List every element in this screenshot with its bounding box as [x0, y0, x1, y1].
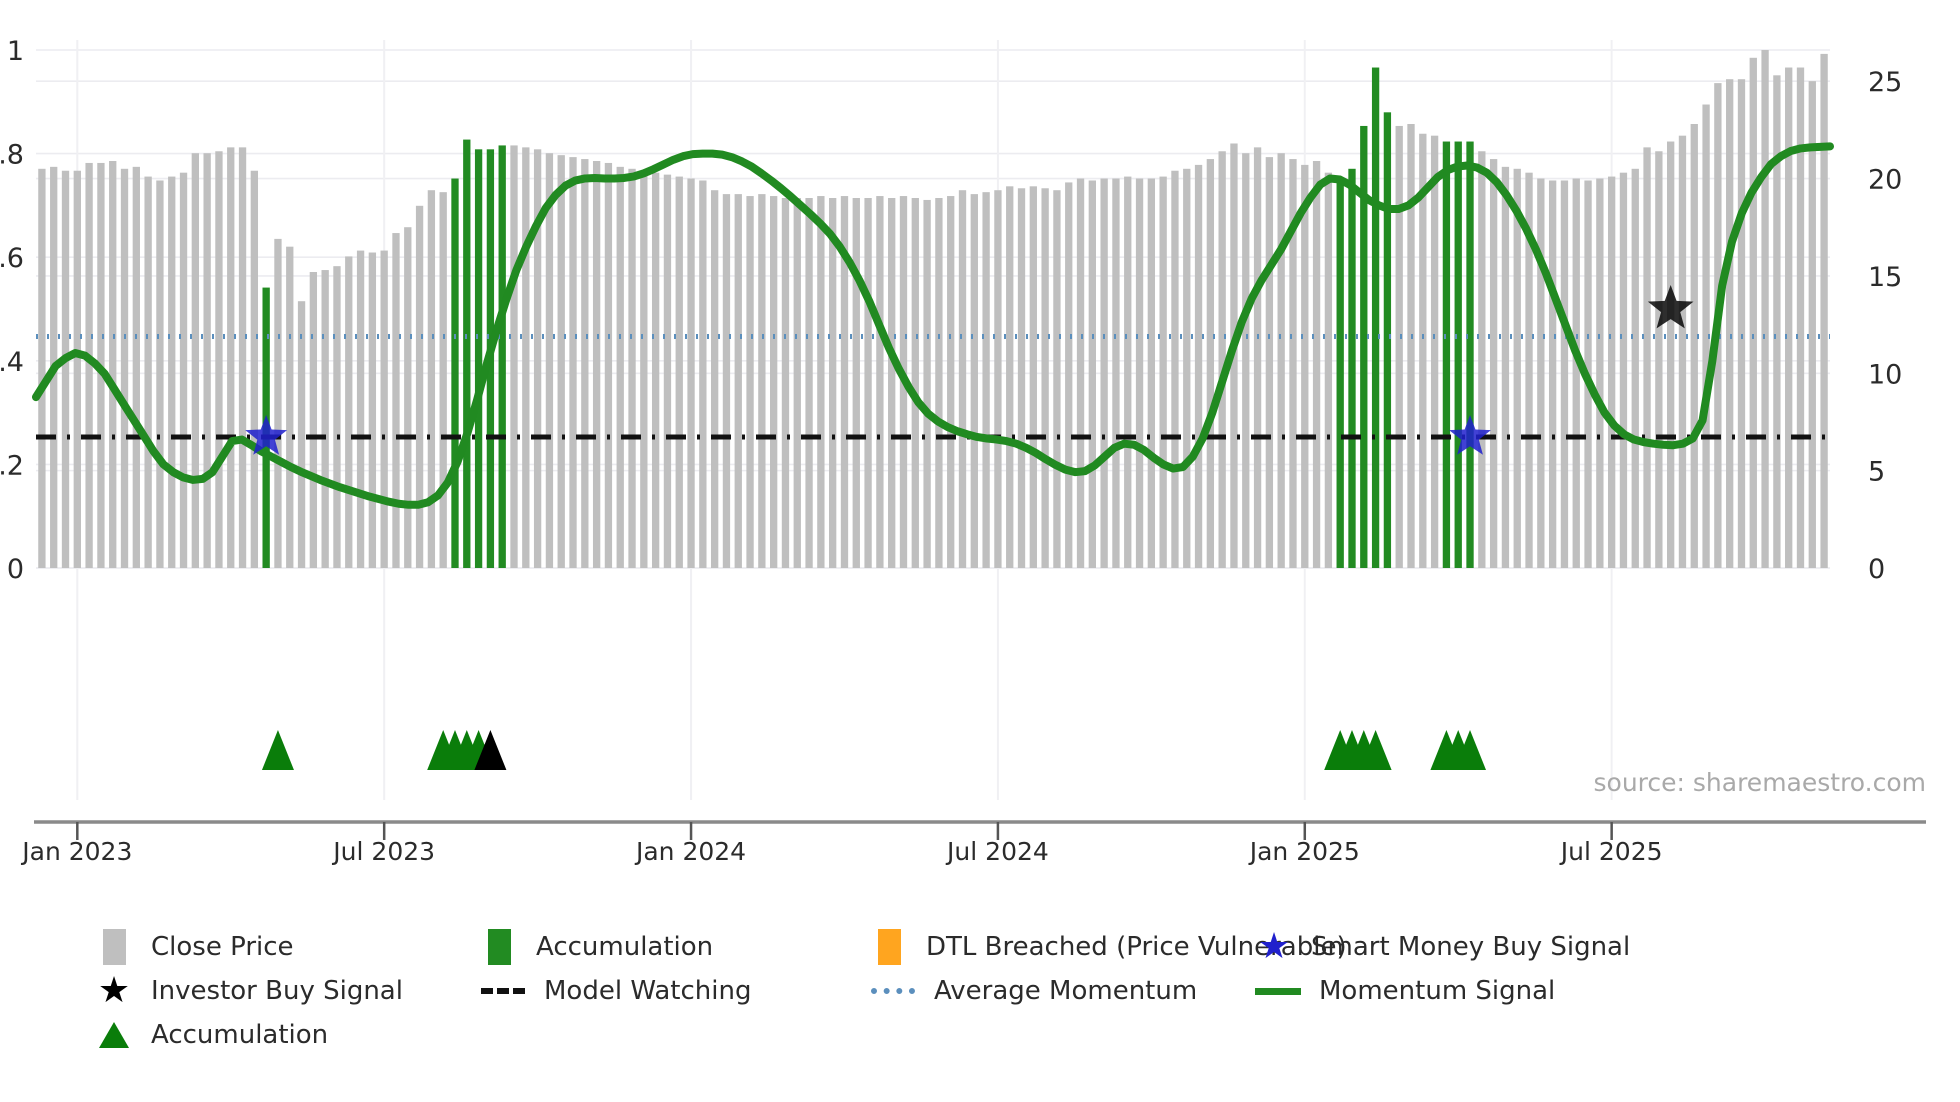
y-axis-right-tick: 0 — [1868, 554, 1885, 585]
price-bar — [1124, 177, 1131, 568]
legend-label-accumulation-bar: Accumulation — [536, 932, 713, 962]
price-bar — [440, 192, 447, 568]
price-bar — [62, 171, 69, 568]
price-bar — [168, 177, 175, 568]
price-bar — [192, 153, 199, 568]
price-bar — [133, 167, 140, 568]
price-bar — [876, 196, 883, 568]
price-bar — [451, 179, 458, 568]
y-axis-right-tick: 15 — [1868, 262, 1902, 293]
price-bar — [746, 196, 753, 568]
price-bar — [203, 153, 210, 568]
price-bar — [1573, 179, 1580, 568]
star-black-icon: ★ — [95, 976, 133, 1006]
price-bar — [1561, 180, 1568, 568]
price-bar — [805, 198, 812, 568]
price-bar — [1112, 179, 1119, 568]
y-axis-left-tick: 0 — [7, 554, 24, 585]
price-bar — [1266, 157, 1273, 568]
y-axis-left-tick: 0.2 — [0, 450, 24, 481]
price-bar — [1254, 147, 1261, 568]
legend-label-average-momentum: Average Momentum — [934, 976, 1197, 1006]
price-bar — [1301, 165, 1308, 568]
price-bar — [1643, 147, 1650, 568]
price-bar — [1100, 179, 1107, 568]
chart-page: 00.20.40.60.810510152025Jan 2023Jul 2023… — [0, 0, 1960, 1102]
price-bar — [227, 147, 234, 568]
price-bar — [723, 194, 730, 568]
price-bar — [251, 171, 258, 568]
y-axis-right-tick: 25 — [1868, 67, 1902, 98]
legend-row-1: Close Price Accumulation DTL Breached (P… — [95, 928, 1895, 966]
price-bar — [1632, 169, 1639, 568]
price-bar — [1785, 68, 1792, 568]
bar-swatch-green-icon — [480, 929, 518, 965]
price-bar — [1407, 124, 1414, 568]
dashed-line-black-icon — [480, 988, 526, 994]
y-axis-right-tick: 10 — [1868, 359, 1902, 390]
price-bar — [1278, 153, 1285, 568]
price-bar — [215, 151, 222, 568]
price-bar — [499, 145, 506, 568]
price-bar — [652, 173, 659, 568]
y-axis-left-tick: 0.4 — [0, 347, 24, 378]
source-attribution: source: sharemaestro.com — [1594, 768, 1927, 797]
price-bar — [569, 157, 576, 568]
price-bar — [558, 155, 565, 568]
price-bar — [1136, 179, 1143, 568]
price-bar — [711, 190, 718, 568]
price-bar — [687, 179, 694, 568]
price-bar — [369, 253, 376, 568]
price-bar — [1348, 169, 1355, 568]
price-bar — [853, 198, 860, 568]
price-bar — [1655, 151, 1662, 568]
price-bar — [1726, 79, 1733, 568]
price-bar — [664, 175, 671, 568]
price-bar — [1691, 124, 1698, 568]
x-axis-tick: Jan 2024 — [634, 837, 746, 866]
price-bar — [1809, 81, 1816, 568]
price-bar — [864, 198, 871, 568]
legend-label-smart-money: Smart Money Buy Signal — [1311, 932, 1630, 962]
price-bar — [1478, 151, 1485, 568]
bar-swatch-grey-icon — [95, 929, 133, 965]
price-bar — [74, 171, 81, 568]
price-bar — [522, 147, 529, 568]
price-bar — [888, 198, 895, 568]
price-bar — [1549, 180, 1556, 568]
price-bar — [829, 198, 836, 568]
price-bar — [1679, 136, 1686, 568]
legend-row-3: Accumulation — [95, 1016, 1895, 1054]
price-bar — [923, 200, 930, 568]
price-bar — [1667, 142, 1674, 568]
legend-label-model-watching: Model Watching — [544, 976, 751, 1006]
price-bar — [959, 190, 966, 568]
price-bar — [628, 169, 635, 568]
price-bar — [605, 163, 612, 568]
price-bar — [298, 301, 305, 568]
price-bar — [640, 171, 647, 568]
price-bar — [1219, 151, 1226, 568]
price-bar — [1325, 173, 1332, 568]
price-bar — [38, 169, 45, 568]
price-bar — [1738, 79, 1745, 568]
price-bar — [1018, 188, 1025, 568]
price-bar — [593, 161, 600, 568]
price-bar — [510, 145, 517, 568]
price-bar — [1195, 165, 1202, 568]
price-bar — [381, 251, 388, 568]
legend-label-close-price: Close Price — [151, 932, 294, 962]
chart-legend: Close Price Accumulation DTL Breached (P… — [95, 928, 1895, 1060]
legend-item-average-momentum[interactable]: Average Momentum — [870, 976, 1197, 1006]
price-bar — [109, 161, 116, 568]
price-bar — [1053, 190, 1060, 568]
x-axis-tick: Jan 2023 — [20, 837, 132, 866]
legend-item-smart-money[interactable]: ★ Smart Money Buy Signal — [1255, 932, 1630, 962]
price-bar — [1431, 136, 1438, 568]
price-bar — [1514, 169, 1521, 568]
price-bar — [1773, 75, 1780, 568]
price-bar — [121, 169, 128, 568]
price-bar — [794, 198, 801, 568]
price-bar — [1006, 186, 1013, 568]
y-axis-right-tick: 5 — [1868, 457, 1885, 488]
price-bar — [676, 177, 683, 568]
price-bar — [1608, 177, 1615, 568]
legend-item-investor-buy[interactable]: ★ Investor Buy Signal — [95, 976, 403, 1006]
price-bar — [758, 194, 765, 568]
price-bar — [947, 196, 954, 568]
y-axis-right-tick: 20 — [1868, 165, 1902, 196]
price-bar — [1171, 171, 1178, 568]
price-bar — [475, 149, 482, 568]
price-bar — [322, 270, 329, 568]
price-bar — [1490, 159, 1497, 568]
price-bar — [994, 190, 1001, 568]
price-bar — [1148, 179, 1155, 568]
price-bar — [1797, 68, 1804, 568]
bar-swatch-orange-icon — [870, 929, 908, 965]
price-bar — [1466, 142, 1473, 568]
price-bar — [546, 153, 553, 568]
price-bar — [180, 173, 187, 568]
price-bar — [1159, 177, 1166, 568]
legend-item-accumulation-bar[interactable]: Accumulation — [480, 929, 713, 965]
price-bar — [1313, 161, 1320, 568]
price-bar — [735, 194, 742, 568]
legend-item-accumulation-triangle[interactable]: Accumulation — [95, 1020, 328, 1050]
price-bar — [310, 272, 317, 568]
price-bar — [935, 198, 942, 568]
y-axis-left-tick: 0.6 — [0, 243, 24, 274]
x-axis-tick: Jul 2024 — [945, 837, 1049, 866]
price-bar — [1207, 159, 1214, 568]
price-bar — [416, 206, 423, 568]
price-bar — [1502, 167, 1509, 568]
price-bar — [1041, 188, 1048, 568]
price-bar — [817, 196, 824, 568]
price-bar — [463, 140, 470, 568]
price-bar — [1372, 68, 1379, 568]
price-bar — [1065, 182, 1072, 568]
legend-label-investor-buy: Investor Buy Signal — [151, 976, 403, 1006]
price-bar — [1455, 142, 1462, 568]
price-bar — [1396, 126, 1403, 568]
legend-label-momentum-signal: Momentum Signal — [1319, 976, 1555, 1006]
legend-row-2: ★ Investor Buy Signal Model Watching Ave… — [95, 972, 1895, 1010]
legend-item-momentum-signal[interactable]: Momentum Signal — [1255, 976, 1555, 1006]
price-bar — [617, 167, 624, 568]
triangle-green-icon — [95, 1022, 133, 1048]
star-blue-icon: ★ — [1255, 932, 1293, 962]
price-bar — [357, 251, 364, 568]
price-bar — [345, 256, 352, 568]
legend-item-model-watching[interactable]: Model Watching — [480, 976, 751, 1006]
price-bar — [982, 192, 989, 568]
price-bar — [1183, 169, 1190, 568]
price-bar — [1750, 58, 1757, 568]
price-bar — [1242, 153, 1249, 568]
y-axis-left-tick: 0.8 — [0, 140, 24, 171]
price-bar — [1030, 186, 1037, 568]
price-bar — [144, 177, 151, 568]
price-bar — [971, 194, 978, 568]
price-bar — [770, 196, 777, 568]
x-axis-tick: Jul 2023 — [331, 837, 435, 866]
price-bar — [1596, 179, 1603, 568]
price-bar — [274, 239, 281, 568]
legend-label-accumulation-triangle: Accumulation — [151, 1020, 328, 1050]
x-axis-tick: Jan 2025 — [1248, 837, 1360, 866]
price-bar — [1089, 180, 1096, 568]
price-bar — [1384, 112, 1391, 568]
price-bar — [782, 198, 789, 568]
legend-item-close-price[interactable]: Close Price — [95, 929, 294, 965]
dotted-line-blue-icon — [870, 988, 916, 994]
price-bar — [286, 247, 293, 568]
price-bar — [333, 266, 340, 568]
price-bar — [699, 180, 706, 568]
price-bar — [912, 198, 919, 568]
price-bar — [581, 159, 588, 568]
price-bar — [1337, 180, 1344, 568]
y-axis-left-tick: 1 — [7, 36, 24, 67]
price-bar — [1537, 179, 1544, 568]
price-bar — [156, 180, 163, 568]
price-bar — [239, 147, 246, 568]
price-bar — [392, 233, 399, 568]
price-bar — [1761, 50, 1768, 568]
solid-line-green-icon — [1255, 988, 1301, 995]
price-bar — [1620, 173, 1627, 568]
price-bar — [1077, 179, 1084, 568]
price-bar — [1443, 142, 1450, 568]
price-bar — [428, 190, 435, 568]
x-axis-tick: Jul 2025 — [1559, 837, 1663, 866]
price-bar — [1820, 54, 1827, 568]
price-bar — [404, 227, 411, 568]
